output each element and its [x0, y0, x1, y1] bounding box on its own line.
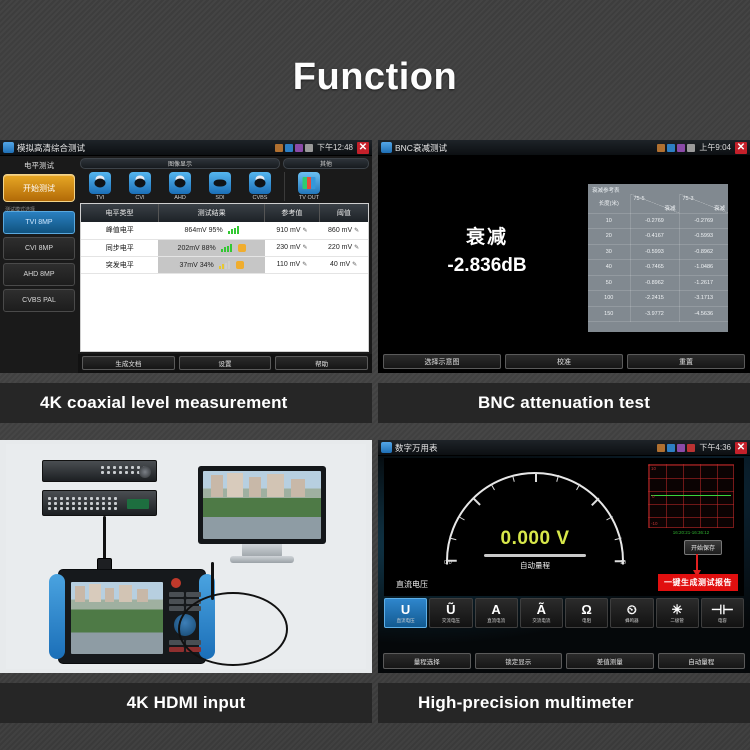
- titlebar: BNC衰减测试 上午9:04 ✕: [378, 140, 750, 156]
- screenshot-hdmi-diagram: [0, 440, 372, 673]
- dc-voltage-icon: U: [401, 603, 410, 616]
- hdmi-cable-loop: [178, 592, 288, 666]
- tv-out-icon: [298, 172, 320, 194]
- screenshot-multimeter: 数字万用表 下午4:36 ✕: [378, 440, 750, 673]
- start-test-button[interactable]: 开始测试: [3, 174, 75, 202]
- table-row: 150 -3.9772 -4.5636: [588, 306, 728, 322]
- bottom-button-bar: 选择示意图 校准 重置: [378, 354, 750, 369]
- reference-value: 110 mV: [277, 261, 301, 268]
- signal-icon-label: CVI: [120, 195, 160, 201]
- cell-reference[interactable]: 230 mV ✎: [265, 239, 320, 256]
- chart-timestamp: 16:20:21-16:36:12: [648, 530, 734, 535]
- cell-test-result: 864mV 95%: [158, 222, 264, 239]
- cell-threshold[interactable]: 860 mV ✎: [319, 222, 368, 239]
- signal-bars-icon: [219, 261, 230, 269]
- cell-length: 150: [588, 306, 630, 322]
- caption-bnc-attenuation: BNC attenuation test: [378, 383, 750, 423]
- signal-icon-tvi[interactable]: TVI: [80, 172, 120, 201]
- threshold-value: 220 mV: [328, 244, 352, 251]
- tab-others[interactable]: 其他: [283, 158, 369, 169]
- close-icon[interactable]: ✕: [735, 442, 747, 454]
- battery-icon: [305, 144, 313, 152]
- screenshot-coaxial-level: 模拟高清综合测试 下午12:48 ✕ 电平测试 开始测试 测试模式选择: [0, 140, 372, 373]
- function-label: 蜂鸣器: [625, 618, 639, 624]
- page-title: Function: [0, 56, 750, 99]
- cell-75-5: -0.8962: [630, 275, 679, 291]
- eye-icon: [209, 172, 231, 194]
- cell-test-result: 37mV 34%: [158, 256, 264, 273]
- ohm-icon: Ω: [581, 603, 591, 616]
- signal-icon-tv-out[interactable]: TV OUT: [289, 172, 329, 201]
- titlebar-status-area: 下午4:36 ✕: [657, 442, 747, 454]
- help-button[interactable]: 帮助: [275, 356, 368, 370]
- diagram-frame: [6, 444, 366, 669]
- function-continuity[interactable]: ⏲ 蜂鸣器: [610, 598, 653, 628]
- cell-length: 50: [588, 275, 630, 291]
- clock: 下午12:48: [317, 142, 353, 153]
- function-dc-voltage[interactable]: U 直流电压: [384, 598, 427, 628]
- edit-pencil-icon[interactable]: ✎: [354, 245, 359, 251]
- dvr-dial: [139, 466, 151, 478]
- relative-measure-button[interactable]: 差值测量: [566, 653, 654, 669]
- diode-icon: ✳: [672, 603, 683, 616]
- table-row: 20 -0.4167 -0.5993: [588, 229, 728, 245]
- col-reference: 参考值: [265, 204, 320, 222]
- report-badge: 一键生成测试报告: [658, 574, 738, 591]
- switch-uplink-port: [127, 499, 149, 509]
- sidebar-item-ahd[interactable]: AHD 8MP: [3, 263, 75, 286]
- result-value: 37mV 34%: [180, 261, 214, 268]
- signal-bars-icon: [228, 226, 239, 234]
- cell-threshold[interactable]: 220 mV ✎: [319, 239, 368, 256]
- cell-length: 100: [588, 291, 630, 307]
- col-length: 长度(米): [588, 194, 630, 213]
- calendar-icon: [657, 144, 665, 152]
- function-label: 交流电流: [532, 618, 550, 624]
- camera-icon: [249, 172, 271, 194]
- signal-type-icons: TVI CVI AHD: [78, 169, 372, 203]
- sidebar-item-cvbs[interactable]: CVBS PAL: [3, 289, 75, 312]
- trend-line: [651, 495, 731, 497]
- app-tray-icon: [677, 444, 685, 452]
- app-tray-icon: [677, 144, 685, 152]
- reset-button[interactable]: 重置: [627, 354, 745, 369]
- signal-icon-label: TV OUT: [289, 195, 329, 201]
- dc-current-icon: A: [491, 603, 500, 616]
- feature-grid: 模拟高清综合测试 下午12:48 ✕ 电平测试 开始测试 测试模式选择: [0, 140, 750, 740]
- camera-icon: [89, 172, 111, 194]
- col-75-5: 75-5 衰减: [630, 194, 679, 213]
- cell-75-3: -3.1713: [679, 291, 728, 307]
- start-save-button[interactable]: 开始保存: [684, 540, 722, 555]
- attenuation-label: 衰减: [412, 222, 562, 249]
- chart-axis-mid: 0: [652, 494, 655, 499]
- hold-display-button[interactable]: 锁定显示: [475, 653, 563, 669]
- page-root: Function 模拟高清综合测试 下午12:48 ✕: [0, 0, 750, 750]
- function-resistance[interactable]: Ω 电阻: [565, 598, 608, 628]
- table-row: 同步电平 202mV 88% 230 mV ✎: [81, 239, 368, 256]
- tester-grip-left: [49, 574, 65, 659]
- cell-reference[interactable]: 110 mV ✎: [265, 256, 320, 273]
- function-diode[interactable]: ✳ 二极管: [656, 598, 699, 628]
- clock: 上午9:04: [699, 142, 731, 153]
- signal-icon-label: CVBS: [240, 195, 280, 201]
- feature-cell-bnc-attenuation: BNC衰减测试 上午9:04 ✕ 衰减 -2.836dB: [378, 140, 750, 423]
- signal-icon-sdi[interactable]: SDI: [200, 172, 240, 201]
- panel-body: 衰减 -2.836dB 衰减参考表 长度(米) 75-5 衰减: [378, 156, 750, 373]
- titlebar: 数字万用表 下午4:36 ✕: [378, 440, 750, 456]
- cell-length: 40: [588, 260, 630, 276]
- function-label: 交流电压: [442, 618, 460, 624]
- cell-length: 30: [588, 244, 630, 260]
- result-value: 202mV 88%: [178, 244, 216, 251]
- network-icon: [667, 444, 675, 452]
- close-icon[interactable]: ✕: [735, 142, 747, 154]
- caption-coaxial-level: 4K coaxial level measurement: [0, 383, 372, 423]
- cell-75-5: -2.2415: [630, 291, 679, 307]
- col-test-result: 测试结果: [158, 204, 264, 222]
- reference-table: 长度(米) 75-5 衰减 75-3 衰减: [588, 194, 728, 322]
- table-row: 突发电平 37mV 34% 110 mV ✎: [81, 256, 368, 273]
- switch-ports: [48, 497, 117, 510]
- arrow-down-icon: [696, 554, 698, 571]
- gauge-tick: [535, 472, 537, 482]
- signal-icon-label: AHD: [160, 195, 200, 201]
- table-header-row: 长度(米) 75-5 衰减 75-3 衰减: [588, 194, 728, 213]
- hdmi-cable-upper: [103, 516, 106, 562]
- warning-icon: [236, 261, 244, 269]
- bottom-button-bar: 生成文档 设置 帮助: [78, 354, 372, 373]
- titlebar: 模拟高清综合测试 下午12:48 ✕: [0, 140, 372, 156]
- monitor-base: [230, 556, 294, 563]
- titlebar-status-area: 下午12:48 ✕: [275, 142, 369, 154]
- cable-type-label: 75-3: [683, 196, 694, 202]
- signal-icon-ahd[interactable]: AHD: [160, 172, 200, 201]
- camera-icon: [129, 172, 151, 194]
- sidebar-item-cvi[interactable]: CVI 8MP: [3, 237, 75, 260]
- attenuation-reading: 衰减 -2.836dB: [412, 222, 562, 277]
- titlebar-status-area: 上午9:04 ✕: [657, 142, 747, 154]
- app-icon: [381, 442, 392, 453]
- app-tray-icon: [295, 144, 303, 152]
- attenuation-value: -2.836dB: [412, 255, 562, 277]
- caption-multimeter: High-precision multimeter: [378, 683, 750, 723]
- cell-75-5: -0.7465: [630, 260, 679, 276]
- cell-75-3: -1.0486: [679, 260, 728, 276]
- edit-pencil-icon[interactable]: ✎: [302, 262, 307, 268]
- network-icon: [667, 144, 675, 152]
- app-icon: [3, 142, 14, 153]
- auto-range-button[interactable]: 自动量程: [658, 653, 746, 669]
- function-ac-voltage[interactable]: Ũ 交流电压: [429, 598, 472, 628]
- cell-level-type: 同步电平: [81, 239, 158, 256]
- feature-cell-hdmi-input: 4K HDMI input: [0, 440, 372, 723]
- function-capacitance[interactable]: ⊣⊢ 电容: [701, 598, 744, 628]
- calendar-icon: [657, 444, 665, 452]
- bottom-button-bar: 量程选择 锁定显示 差值测量 自动量程: [378, 653, 750, 669]
- table-row: 30 -0.5993 -0.8962: [588, 244, 728, 260]
- range-mode-label: 自动量程: [446, 560, 624, 571]
- screenshot-bnc-attenuation: BNC衰减测试 上午9:04 ✕ 衰减 -2.836dB: [378, 140, 750, 373]
- cell-75-3: -4.5636: [679, 306, 728, 322]
- attenuation-label: 衰减: [714, 204, 725, 212]
- cable-type-label: 75-5: [634, 196, 645, 202]
- edit-pencil-icon[interactable]: ✎: [354, 228, 359, 234]
- dvr-unit: [42, 460, 157, 482]
- measurement-mode-label: 直流电压: [396, 579, 428, 590]
- capacitor-icon: ⊣⊢: [711, 603, 734, 616]
- attenuation-label: 衰减: [664, 204, 675, 212]
- cell-75-5: -3.9772: [630, 306, 679, 322]
- select-diagram-button[interactable]: 选择示意图: [383, 354, 501, 369]
- cell-length: 20: [588, 229, 630, 245]
- function-label: 电容: [718, 618, 727, 624]
- app-icon: [381, 142, 392, 153]
- table-row: 峰值电平 864mV 95% 910 mV ✎: [81, 222, 368, 239]
- function-label: 二极管: [670, 618, 684, 624]
- col-level-type: 电平类型: [81, 204, 158, 222]
- calendar-icon: [275, 144, 283, 152]
- ac-current-icon: Ã: [537, 603, 546, 616]
- signal-icon-label: SDI: [200, 195, 240, 201]
- cell-length: 10: [588, 213, 630, 229]
- level-table: 电平类型 测试结果 参考值 阈值 峰值电平 864mV 95%: [81, 204, 368, 274]
- function-selector-row: U 直流电压 Ũ 交流电压 A 直流电流 Ã 交流电流: [384, 598, 744, 628]
- warning-icon: [238, 244, 246, 252]
- sidebar: 电平测试 开始测试 测试模式选择 TVI 8MP CVI 8MP AHD 8MP…: [0, 156, 78, 373]
- reference-value: 910 mV: [276, 227, 300, 234]
- main-area: 图像显示 其他 TVI CVI: [78, 156, 372, 373]
- function-label: 直流电压: [397, 618, 415, 624]
- battery-icon: [687, 144, 695, 152]
- threshold-value: 860 mV: [328, 227, 352, 234]
- cell-level-type: 峰值电平: [81, 222, 158, 239]
- tab-image-display[interactable]: 图像显示: [80, 158, 280, 169]
- cell-75-5: -0.4167: [630, 229, 679, 245]
- titlebar-title: 模拟高清综合测试: [17, 142, 85, 154]
- edit-pencil-icon[interactable]: ✎: [352, 262, 357, 268]
- table-row: 40 -0.7465 -1.0486: [588, 260, 728, 276]
- battery-icon: [687, 444, 695, 452]
- reference-value: 230 mV: [276, 244, 300, 251]
- section-tabs: 图像显示 其他: [78, 156, 372, 169]
- table-header-row: 电平类型 测试结果 参考值 阈值: [81, 204, 368, 222]
- cell-level-type: 突发电平: [81, 256, 158, 273]
- analog-gauge: 0.0 10 0.000 V 自动量程: [446, 472, 624, 564]
- table-row: 100 -2.2415 -3.1713: [588, 291, 728, 307]
- level-table-wrapper: 电平类型 测试结果 参考值 阈值 峰值电平 864mV 95%: [80, 203, 369, 352]
- network-switch: [42, 490, 157, 516]
- titlebar-title: 数字万用表: [395, 442, 438, 454]
- generate-document-button[interactable]: 生成文档: [82, 356, 175, 370]
- chart-axis-min: -10: [651, 521, 658, 526]
- feature-cell-coaxial-level: 模拟高清综合测试 下午12:48 ✕ 电平测试 开始测试 测试模式选择: [0, 140, 372, 423]
- sidebar-header: 电平测试: [3, 158, 75, 174]
- titlebar-title: BNC衰减测试: [395, 142, 447, 154]
- function-label: 电阻: [582, 618, 591, 624]
- function-ac-current[interactable]: Ã 交流电流: [520, 598, 563, 628]
- close-icon[interactable]: ✕: [357, 142, 369, 154]
- settings-button[interactable]: 设置: [179, 356, 272, 370]
- network-icon: [285, 144, 293, 152]
- chart-axis-max: 10: [651, 466, 656, 471]
- gauge-bargraph: [484, 554, 586, 557]
- divider: [284, 172, 285, 201]
- col-75-3: 75-3 衰减: [679, 194, 728, 213]
- sidebar-item-tvi[interactable]: TVI 8MP: [3, 211, 75, 234]
- cell-75-3: -1.2617: [679, 275, 728, 291]
- power-button[interactable]: [171, 578, 181, 588]
- feature-cell-multimeter: 数字万用表 下午4:36 ✕: [378, 440, 750, 723]
- calibrate-button[interactable]: 校准: [505, 354, 623, 369]
- signal-icon-cvbs[interactable]: CVBS: [240, 172, 280, 201]
- multimeter-display: 0.0 10 0.000 V 自动量程 直流电压 10 0 -10 16:20:…: [384, 458, 744, 596]
- result-value: 864mV 95%: [185, 227, 223, 234]
- edit-pencil-icon[interactable]: ✎: [302, 228, 307, 234]
- cell-threshold[interactable]: 40 mV ✎: [319, 256, 368, 273]
- caption-hdmi-input: 4K HDMI input: [0, 683, 372, 723]
- col-threshold: 阈值: [319, 204, 368, 222]
- camera-icon: [169, 172, 191, 194]
- reference-table-title: 衰减参考表: [588, 184, 728, 194]
- buzzer-icon: ⏲: [627, 603, 637, 616]
- edit-pencil-icon[interactable]: ✎: [302, 245, 307, 251]
- cell-75-3: -0.5993: [679, 229, 728, 245]
- table-row: 10 -0.2769 -0.2769: [588, 213, 728, 229]
- panel-body: 电平测试 开始测试 测试模式选择 TVI 8MP CVI 8MP AHD 8MP…: [0, 156, 372, 373]
- tester-screen: [71, 582, 163, 654]
- threshold-value: 40 mV: [330, 261, 350, 268]
- table-row: 50 -0.8962 -1.2617: [588, 275, 728, 291]
- cell-75-5: -0.2769: [630, 213, 679, 229]
- clock: 下午4:36: [699, 442, 731, 453]
- signal-icon-label: TVI: [80, 195, 120, 201]
- measurement-value: 0.000 V: [446, 528, 624, 550]
- hdmi-monitor: [198, 466, 326, 544]
- function-label: 直流电流: [487, 618, 505, 624]
- attenuation-reference-table: 衰减参考表 长度(米) 75-5 衰减 75-3 衰减: [588, 184, 728, 332]
- cell-75-5: -0.5993: [630, 244, 679, 260]
- signal-bars-icon: [221, 244, 232, 252]
- function-dc-current[interactable]: A 直流电流: [475, 598, 518, 628]
- ac-voltage-icon: Ũ: [446, 603, 455, 616]
- range-select-button[interactable]: 量程选择: [383, 653, 471, 669]
- cell-reference[interactable]: 910 mV ✎: [265, 222, 320, 239]
- cell-test-result: 202mV 88%: [158, 239, 264, 256]
- trend-chart: 10 0 -10: [648, 464, 734, 528]
- signal-icon-cvi[interactable]: CVI: [120, 172, 160, 201]
- cell-75-3: -0.2769: [679, 213, 728, 229]
- cell-75-3: -0.8962: [679, 244, 728, 260]
- monitor-screen: [203, 471, 321, 539]
